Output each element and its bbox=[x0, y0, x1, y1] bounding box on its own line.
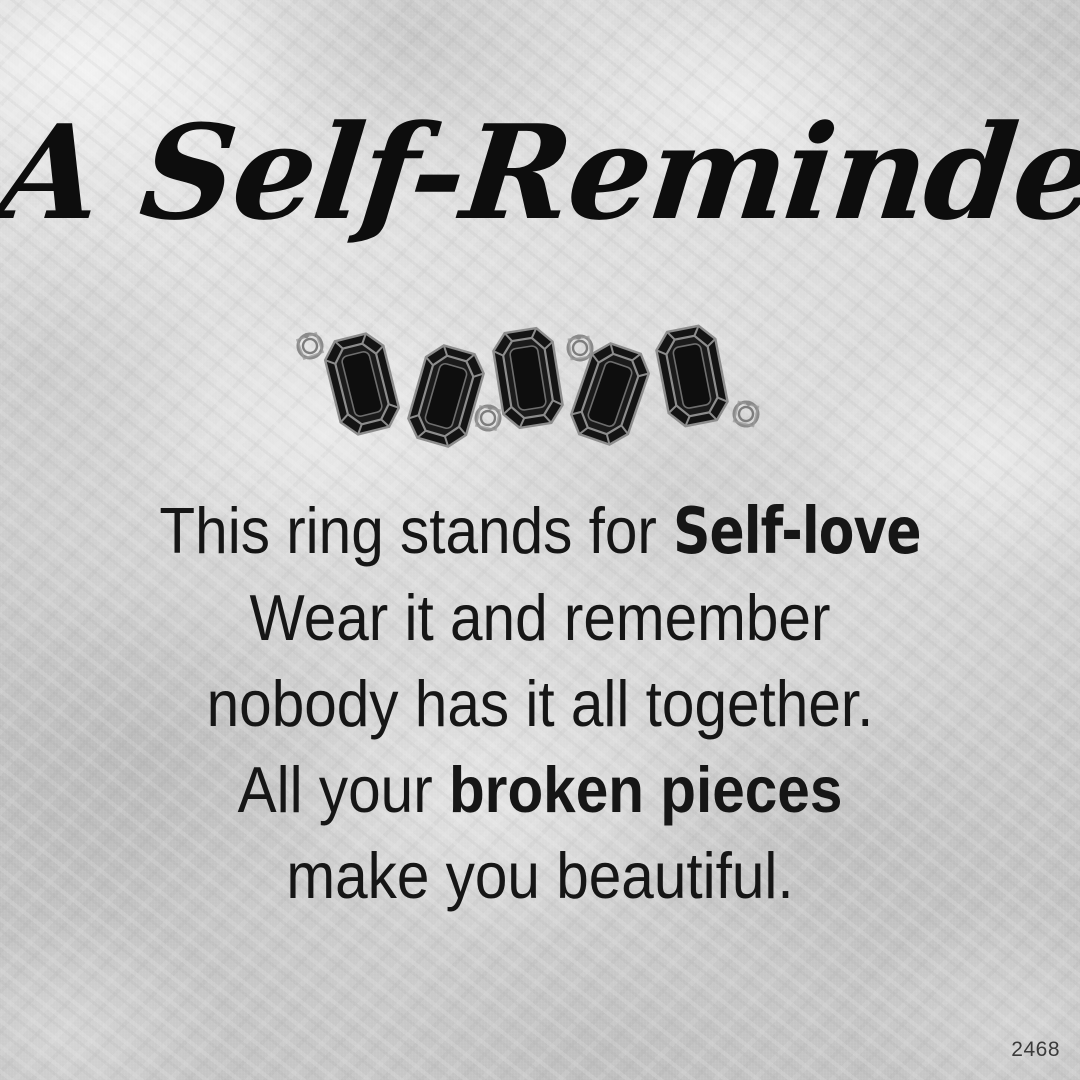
quote-segment-5-1: make you beautiful. bbox=[286, 839, 793, 912]
ring-glyph bbox=[731, 398, 760, 429]
quote-segment-2-1: Wear it and remember bbox=[250, 581, 831, 654]
quote-segment-4-2: broken pieces bbox=[449, 753, 842, 826]
page-title: A Self-Reminder bbox=[0, 108, 1080, 238]
quote-segment-1-2: Self-love bbox=[673, 495, 920, 569]
gem-cluster-divider bbox=[0, 318, 1080, 433]
gem-icon bbox=[491, 326, 565, 430]
gem-icon bbox=[321, 330, 402, 438]
poster-canvas: A Self-Reminder bbox=[0, 0, 1080, 1080]
quote-line-4: All your broken pieces bbox=[90, 747, 990, 833]
ring-glyph bbox=[566, 333, 593, 362]
quote-segment-4-1: All your bbox=[238, 753, 449, 826]
gem-icon bbox=[404, 342, 488, 448]
gem-divider-svg bbox=[280, 318, 800, 448]
gem-icon bbox=[653, 323, 730, 429]
quote-segment-1-1: This ring stands for bbox=[159, 494, 673, 567]
corner-number: 2468 bbox=[1011, 1038, 1060, 1062]
quote-line-5: make you beautiful. bbox=[90, 833, 990, 919]
poster-content: A Self-Reminder bbox=[0, 0, 1080, 1080]
quote-line-3: nobody has it all together. bbox=[90, 661, 990, 747]
quote-segment-3-1: nobody has it all together. bbox=[207, 667, 874, 740]
quote-line-1: This ring stands for Self-love bbox=[90, 488, 990, 575]
quote-line-2: Wear it and remember bbox=[90, 575, 990, 661]
quote-block: This ring stands for Self-loveWear it an… bbox=[90, 488, 990, 919]
ring-glyph bbox=[474, 402, 503, 432]
ring-glyph bbox=[294, 329, 325, 361]
